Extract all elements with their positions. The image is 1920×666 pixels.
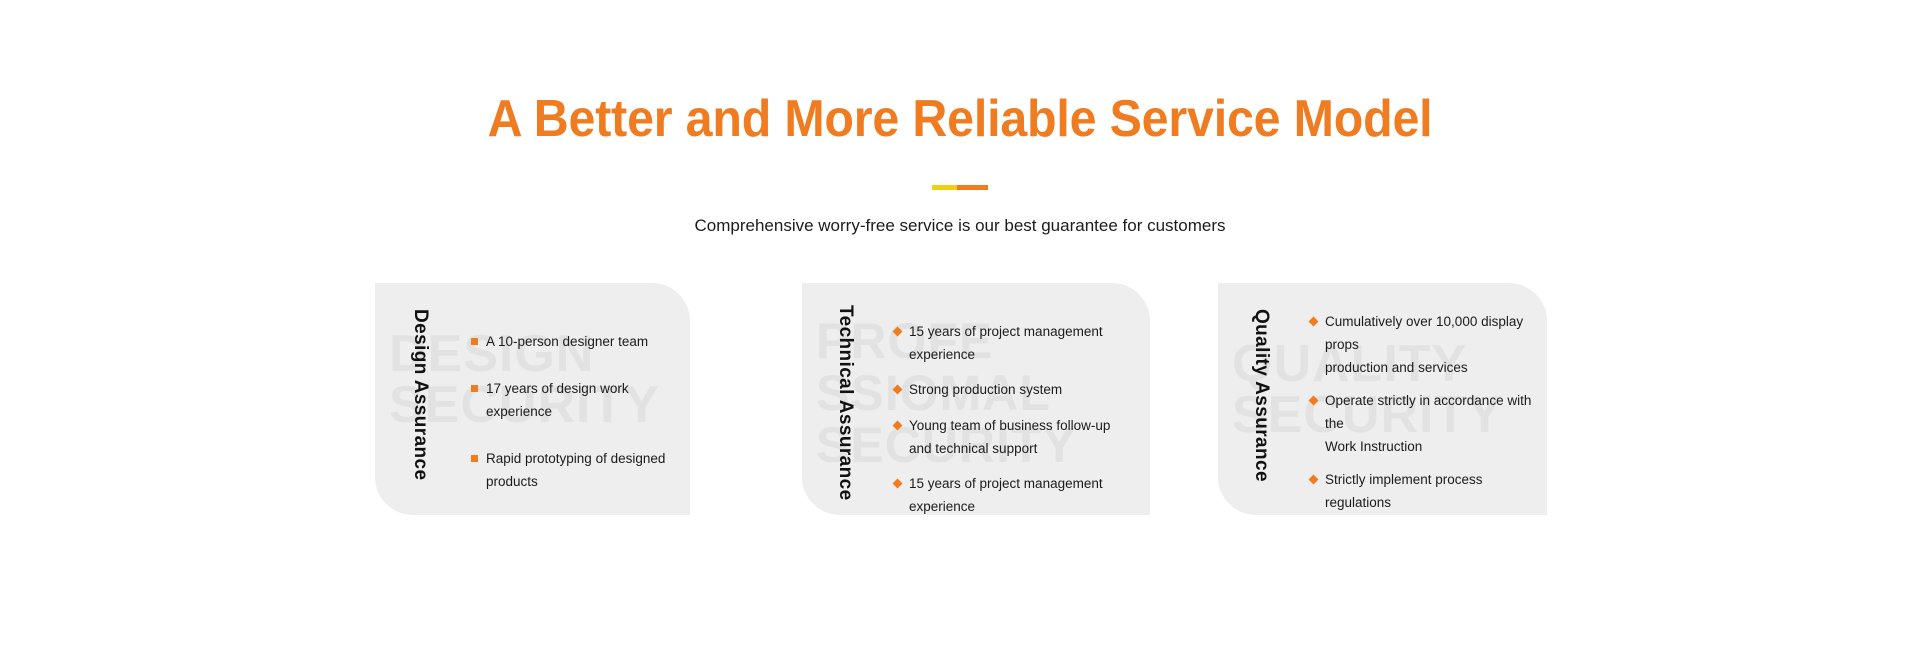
diamond-bullet-icon bbox=[1309, 395, 1319, 405]
list-item: 15 years of project management experienc… bbox=[894, 321, 1140, 367]
square-bullet-icon bbox=[471, 455, 478, 462]
list-item: Operate strictly in accordance with the … bbox=[1310, 390, 1537, 459]
list-item: Rapid prototyping of designed products bbox=[471, 448, 680, 494]
list-item-label: Strictly implement process regulations bbox=[1325, 469, 1537, 515]
page-title: A Better and More Reliable Service Model bbox=[67, 0, 1853, 147]
page-subtitle: Comprehensive worry-free service is our … bbox=[0, 190, 1920, 237]
service-cards-row: DESIGN SECURITY Design Assurance A 10-pe… bbox=[375, 283, 1547, 515]
list-item-label: A 10-person designer team bbox=[486, 331, 648, 354]
list-item-label: Rapid prototyping of designed products bbox=[486, 448, 680, 494]
diamond-bullet-icon bbox=[893, 479, 903, 489]
card-vertical-title: Technical Assurance bbox=[834, 305, 856, 495]
list-item: 17 years of design work experience bbox=[471, 378, 680, 424]
list-item-label: 15 years of project management experienc… bbox=[909, 473, 1140, 515]
list-item: Young team of business follow-up and tec… bbox=[894, 415, 1140, 461]
card-bullet-list: 15 years of project management experienc… bbox=[894, 321, 1140, 515]
card-quality-assurance[interactable]: QUALITY SECURITY Quality Assurance Cumul… bbox=[1218, 283, 1547, 515]
list-item: A 10-person designer team bbox=[471, 331, 680, 354]
list-item-label: 17 years of design work experience bbox=[486, 378, 680, 424]
card-vertical-title: Design Assurance bbox=[409, 309, 431, 499]
list-item: Strong production system bbox=[894, 379, 1140, 402]
card-design-assurance[interactable]: DESIGN SECURITY Design Assurance A 10-pe… bbox=[375, 283, 690, 515]
list-item: Strictly implement process regulations bbox=[1310, 469, 1537, 515]
square-bullet-icon bbox=[471, 385, 478, 392]
card-bullet-list: A 10-person designer team 17 years of de… bbox=[471, 331, 680, 515]
list-item: Cumulatively over 10,000 display props p… bbox=[1310, 311, 1537, 380]
list-item-label: Strong production system bbox=[909, 379, 1062, 402]
card-vertical-title: Quality Assurance bbox=[1250, 309, 1272, 499]
diamond-bullet-icon bbox=[1309, 474, 1319, 484]
section-header: A Better and More Reliable Service Model… bbox=[0, 0, 1920, 237]
card-bullet-list: Cumulatively over 10,000 display props p… bbox=[1310, 311, 1537, 515]
diamond-bullet-icon bbox=[893, 420, 903, 430]
list-item-label: Cumulatively over 10,000 display props p… bbox=[1325, 311, 1537, 380]
list-item-label: Young team of business follow-up and tec… bbox=[909, 415, 1110, 461]
list-item-label: 15 years of project management experienc… bbox=[909, 321, 1140, 367]
divider-segment-yellow bbox=[932, 185, 957, 190]
diamond-bullet-icon bbox=[893, 327, 903, 337]
diamond-bullet-icon bbox=[893, 385, 903, 395]
list-item-label: Operate strictly in accordance with the … bbox=[1325, 390, 1537, 459]
list-item: 15 years of project management experienc… bbox=[894, 473, 1140, 515]
square-bullet-icon bbox=[471, 338, 478, 345]
diamond-bullet-icon bbox=[1309, 317, 1319, 327]
card-technical-assurance[interactable]: PROFE SSIOMAL SECURITY Technical Assuran… bbox=[802, 283, 1150, 515]
divider-segment-orange bbox=[957, 185, 988, 190]
